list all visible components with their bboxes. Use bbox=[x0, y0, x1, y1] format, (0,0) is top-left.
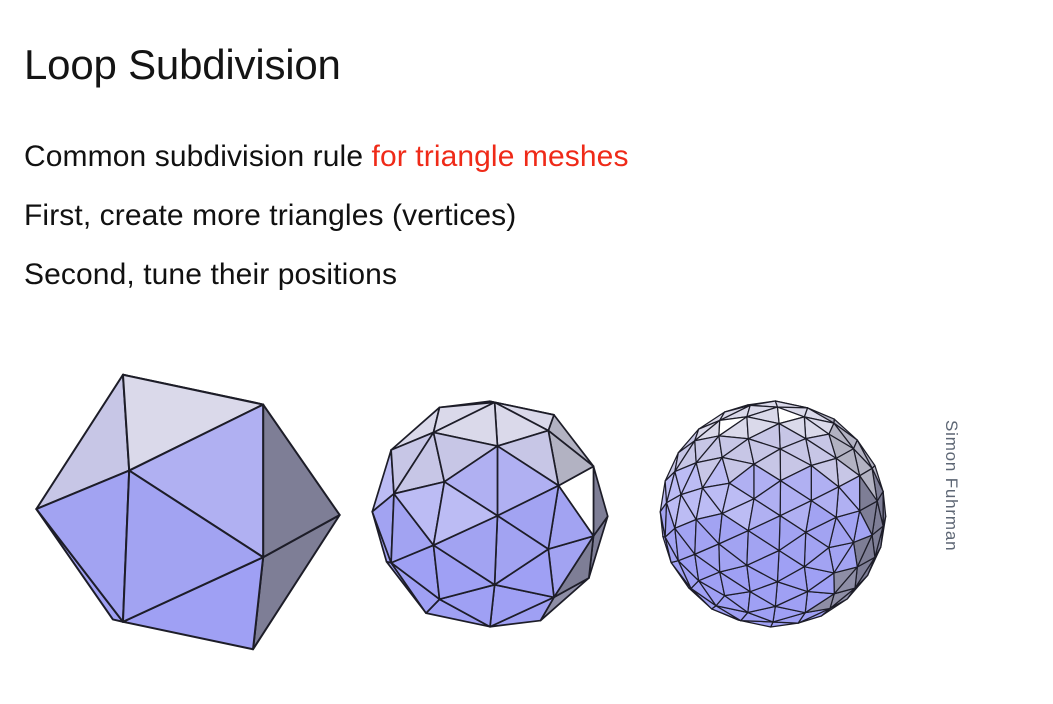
body-line-3-plain: Second, tune their positions bbox=[24, 258, 397, 291]
body-line-2: First, create more triangles (vertices) bbox=[24, 201, 884, 231]
figure-row bbox=[0, 344, 940, 689]
page-title: Loop Subdivision bbox=[24, 41, 341, 90]
body-line-1-accent: for triangle meshes bbox=[372, 140, 629, 173]
body-text-block: Common subdivision rule for triangle mes… bbox=[24, 142, 884, 290]
icosphere-level-1 bbox=[368, 344, 618, 689]
body-line-2-plain: First, create more triangles (vertices) bbox=[24, 199, 516, 232]
credit-text: Simon Fuhrman bbox=[941, 420, 961, 551]
mesh-svg-level-2 bbox=[655, 344, 910, 689]
credit-label: Simon Fuhrman bbox=[941, 420, 965, 620]
body-line-1: Common subdivision rule for triangle mes… bbox=[24, 142, 884, 172]
icosphere-level-2 bbox=[655, 344, 910, 689]
slide-root: Loop Subdivision Common subdivision rule… bbox=[0, 0, 1053, 704]
body-line-3: Second, tune their positions bbox=[24, 260, 884, 290]
mesh-svg-level-1 bbox=[368, 344, 618, 689]
body-line-1-plain: Common subdivision rule bbox=[24, 140, 372, 173]
mesh-svg-level-0 bbox=[38, 344, 350, 689]
icosahedron-level-0 bbox=[38, 344, 350, 689]
